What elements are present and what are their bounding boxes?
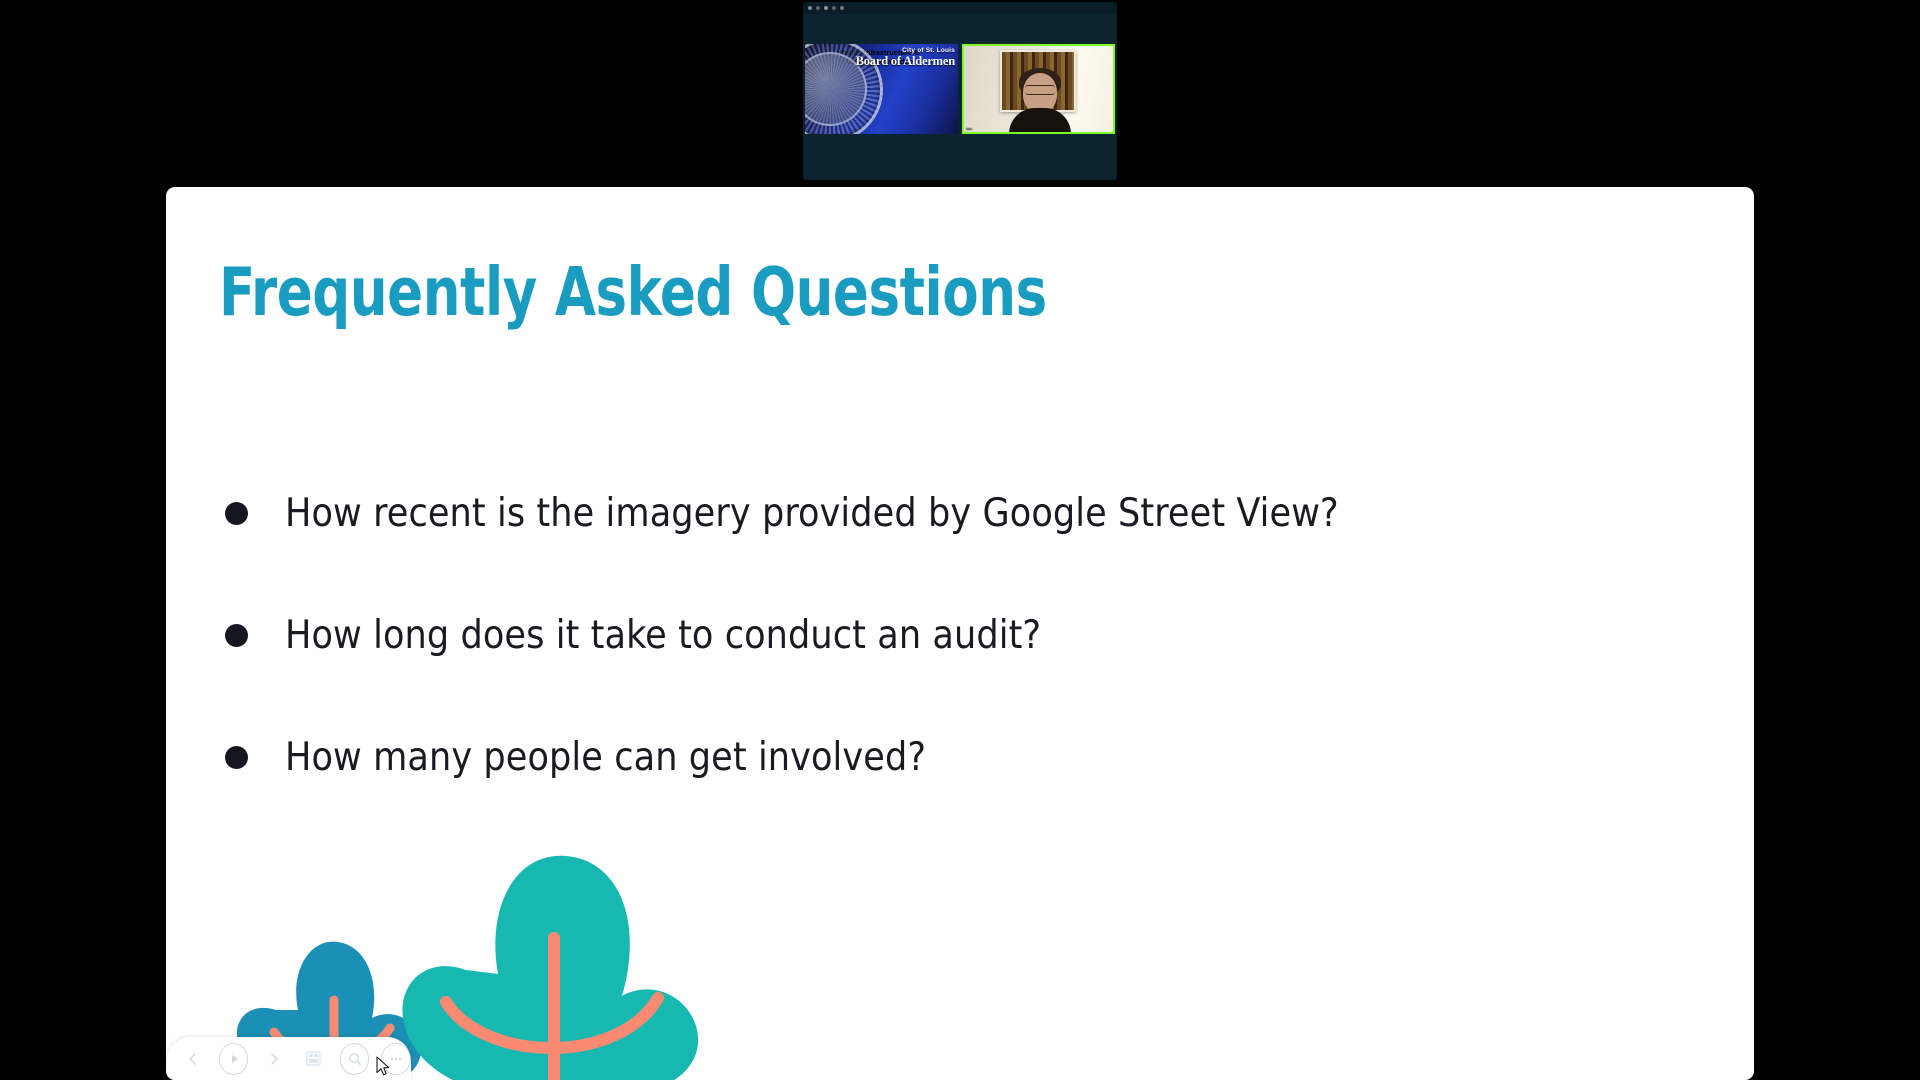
presentation-slide[interactable]: Frequently Asked Questions How recent is… (166, 187, 1754, 1080)
bullet-dot-icon (225, 746, 248, 769)
bullet-text: How many people can get involved? (285, 735, 926, 780)
video-conference-window[interactable]: City of St. Louis Board of Aldermen Publ… (803, 2, 1117, 180)
banner-org-line: Board of Aldermen (847, 55, 955, 68)
banner-text-block: City of St. Louis Board of Aldermen (847, 48, 955, 68)
bullet-dot-icon (225, 624, 248, 647)
window-control-dot-2[interactable] (816, 6, 820, 10)
more-icon (389, 1052, 403, 1066)
grid-icon (306, 1051, 321, 1066)
play-icon (228, 1053, 240, 1065)
window-control-dot-5[interactable] (840, 6, 844, 10)
screen-root: City of St. Louis Board of Aldermen Publ… (0, 0, 1920, 1080)
magnifier-icon (348, 1052, 362, 1066)
window-control-dot-1[interactable] (808, 6, 812, 10)
large-plant-icon (403, 856, 699, 1080)
play-pause-button[interactable] (219, 1043, 249, 1075)
aldermen-banner-tile[interactable]: City of St. Louis Board of Aldermen Publ… (805, 44, 958, 134)
slide-title: Frequently Asked Questions (219, 259, 1047, 326)
list-item: How long does it take to conduct an audi… (221, 574, 1671, 696)
list-item: How many people can get involved? (221, 696, 1671, 818)
glasses-icon (1025, 85, 1055, 95)
bullet-text: How recent is the imagery provided by Go… (285, 491, 1339, 536)
participant-name-label (966, 128, 972, 130)
window-control-dot-4[interactable] (832, 6, 836, 10)
video-window-titlebar[interactable] (803, 2, 1117, 14)
slide-toolbar[interactable] (167, 1037, 411, 1080)
bullet-text: How long does it take to conduct an audi… (285, 613, 1041, 658)
faq-bullet-list: How recent is the imagery provided by Go… (221, 452, 1671, 818)
options-button[interactable] (381, 1043, 411, 1075)
previous-slide-button[interactable] (179, 1044, 207, 1074)
bullet-dot-icon (225, 502, 248, 525)
zoom-button[interactable] (340, 1043, 370, 1075)
chevron-left-icon (186, 1052, 200, 1066)
webcam-participant-tile[interactable] (962, 44, 1115, 134)
layout-button[interactable] (300, 1044, 328, 1074)
list-item: How recent is the imagery provided by Go… (221, 452, 1671, 574)
chevron-right-icon (267, 1052, 281, 1066)
next-slide-button[interactable] (260, 1044, 288, 1074)
window-control-dot-3[interactable] (824, 6, 828, 10)
